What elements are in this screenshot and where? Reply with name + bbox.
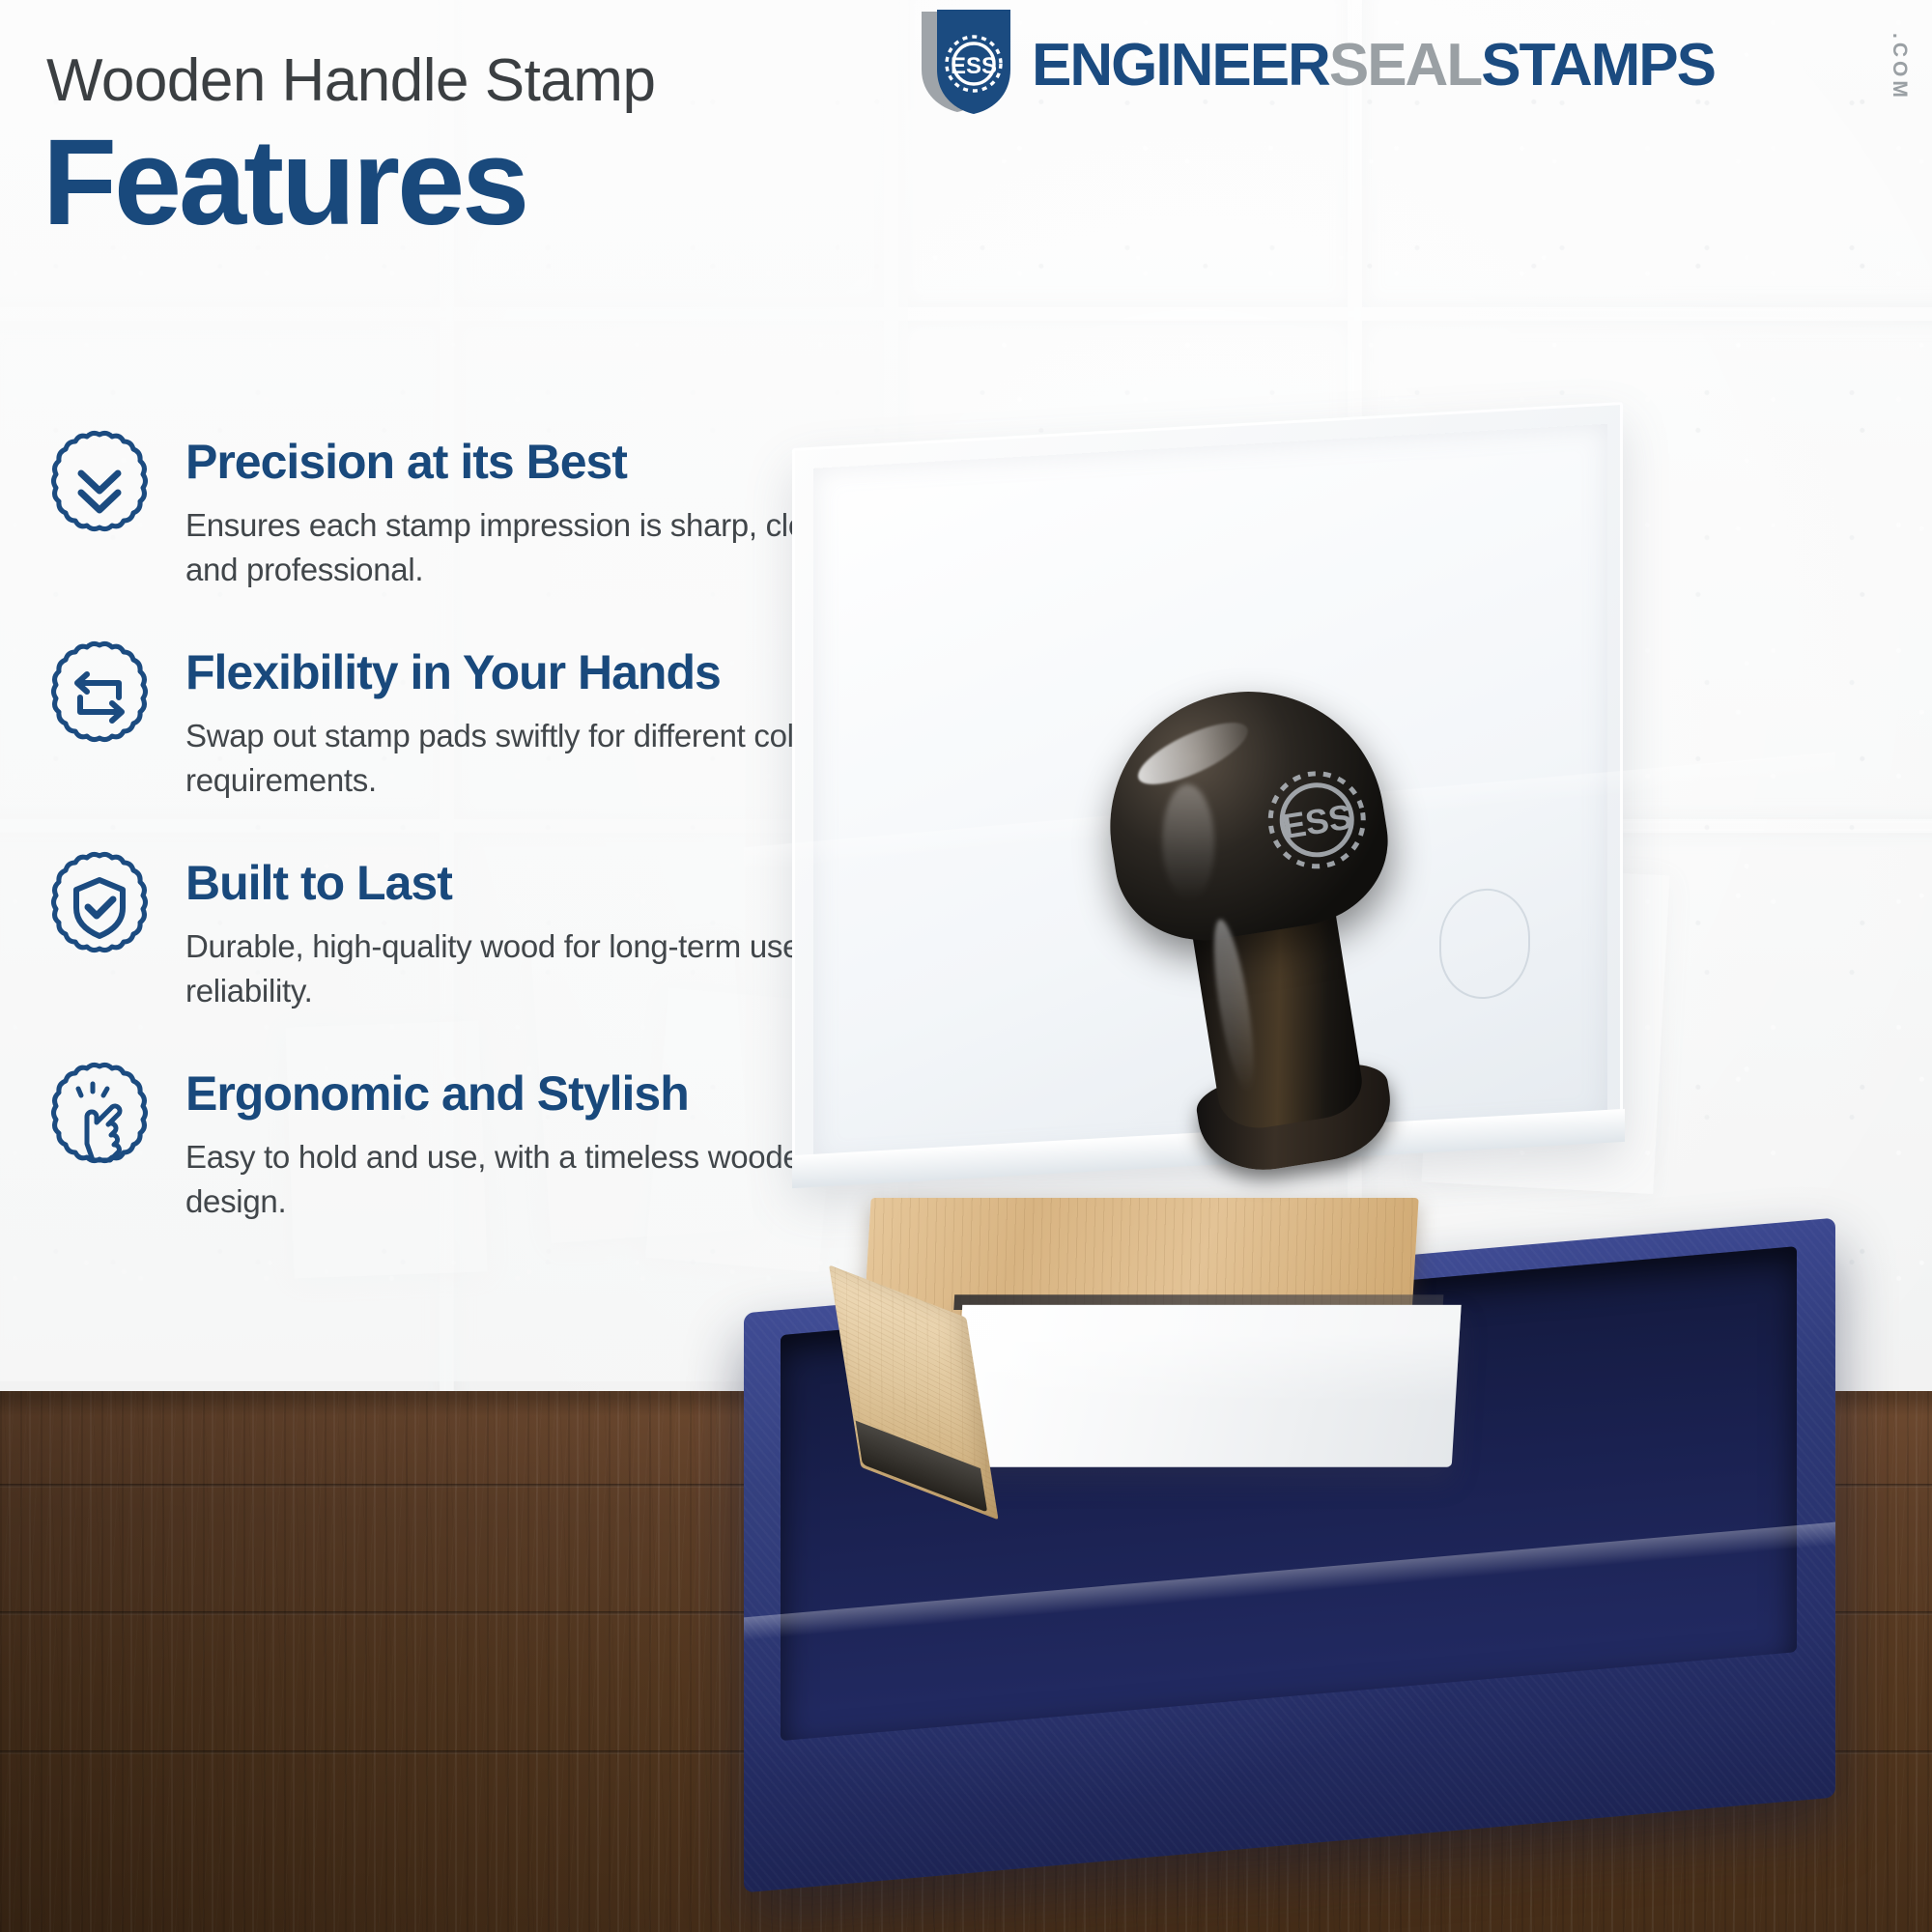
- stamp-label-side: [952, 1305, 1461, 1467]
- gear-seal-icon: ESS: [918, 10, 1022, 114]
- tap-hand-badge-icon: [43, 1061, 156, 1175]
- handle-ess-gear-icon: ESS: [1239, 743, 1394, 897]
- infographic-canvas: Wooden Handle Stamp Features ESS ENGINEE…: [0, 0, 1932, 1932]
- double-chevron-down-badge-icon: [43, 429, 156, 543]
- page-kicker: Wooden Handle Stamp: [46, 46, 655, 115]
- logo-word-seal: SEAL: [1329, 32, 1481, 99]
- brand-logo[interactable]: ESS ENGINEERSEALSTAMPS .COM: [918, 8, 1913, 116]
- product-photo: ESS: [734, 415, 1932, 1893]
- rubber-stamp: ESS: [793, 960, 1603, 1609]
- logo-word-engineer: ENGINEER: [1032, 32, 1329, 99]
- svg-text:ESS: ESS: [951, 53, 997, 79]
- logo-tld: .COM: [1888, 33, 1911, 101]
- logo-wordmark: ENGINEERSEALSTAMPS: [1032, 31, 1715, 99]
- shield-check-badge-icon: [43, 850, 156, 964]
- desk-vignette: [0, 1391, 734, 1932]
- logo-word-stamps: STAMPS: [1481, 32, 1715, 99]
- stamp-label-shine: [952, 1305, 1461, 1467]
- page-title: Features: [43, 122, 526, 243]
- swap-arrows-badge-icon: [43, 639, 156, 753]
